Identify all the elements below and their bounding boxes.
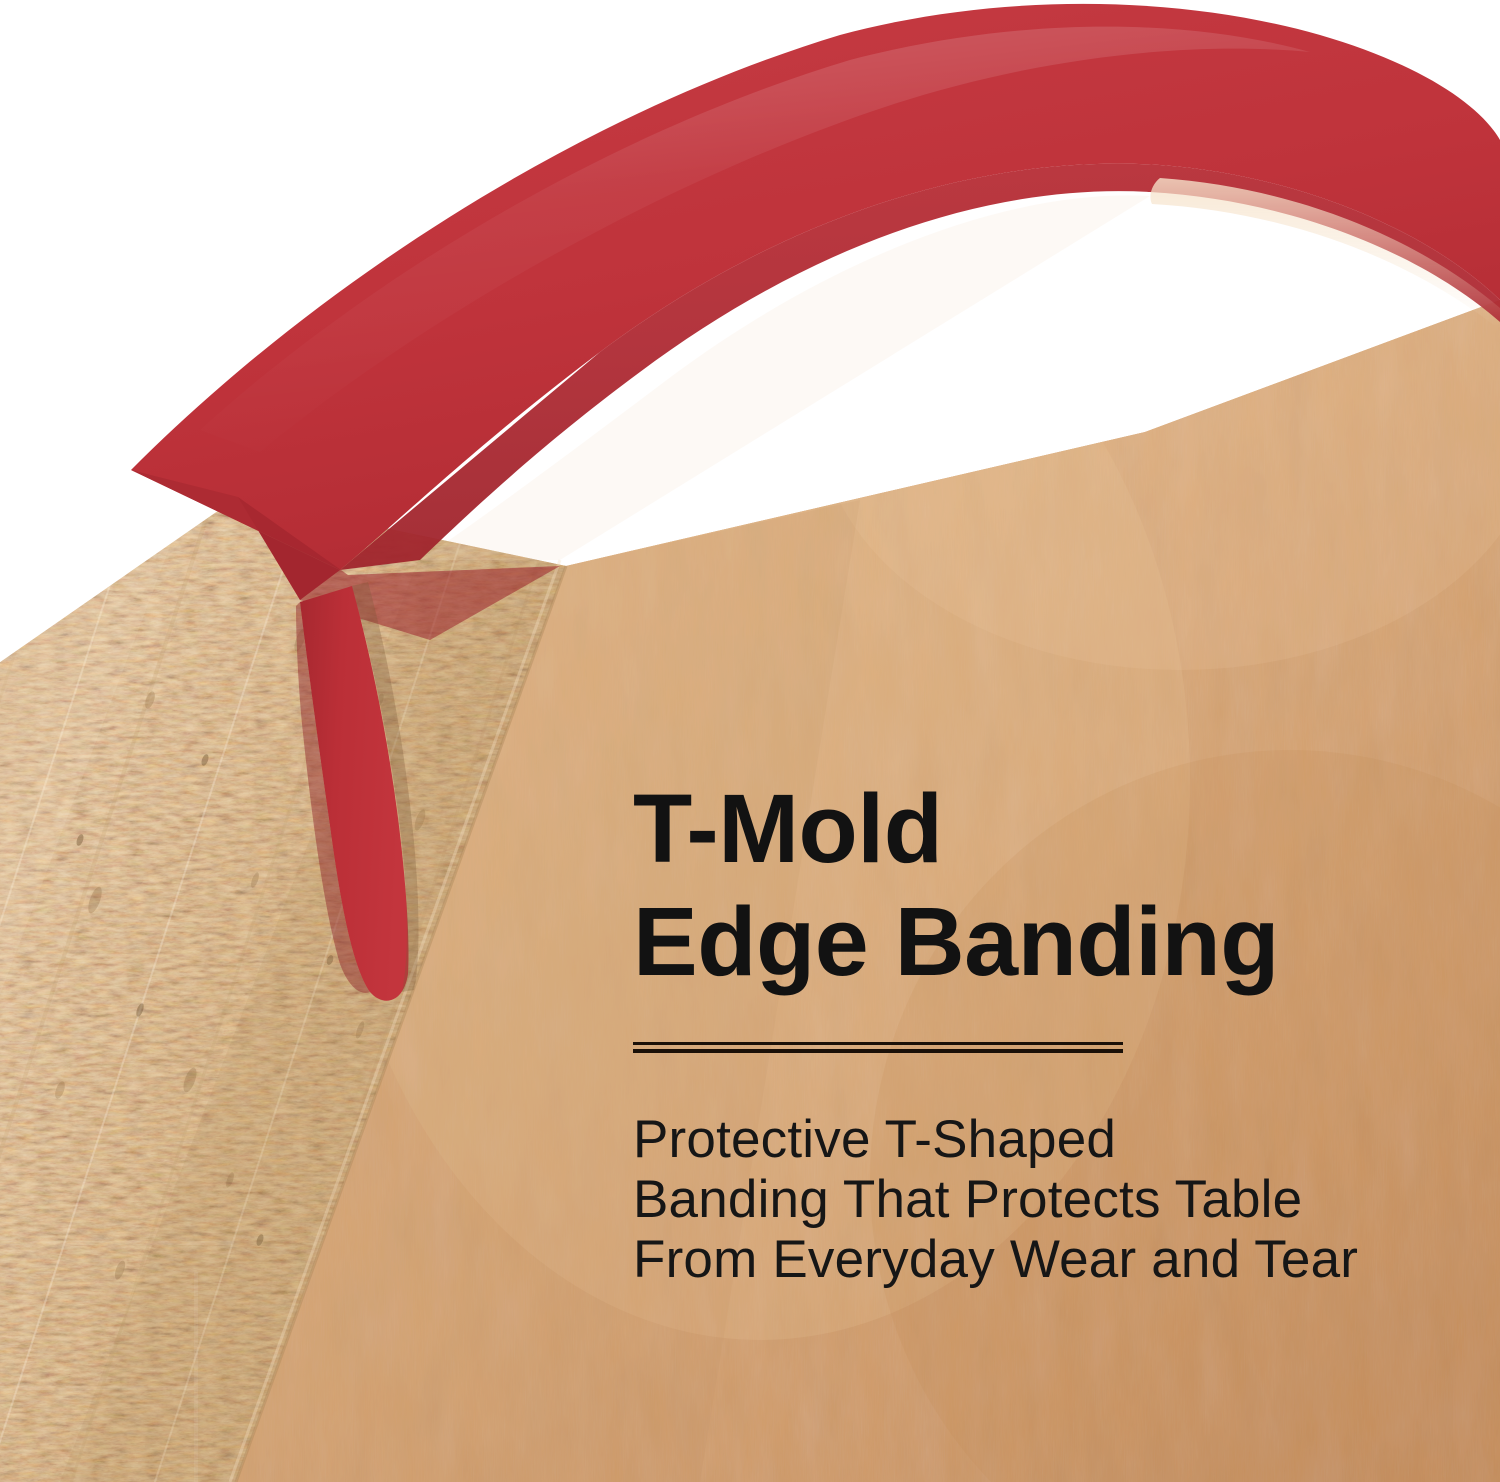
product-feature-image: T-Mold Edge Banding Protective T-Shaped … <box>0 0 1500 1482</box>
headline-line-2: Edge Banding <box>633 885 1423 998</box>
divider <box>633 1042 1123 1052</box>
body-line-1: Protective T-Shaped <box>633 1110 1423 1170</box>
body-line-3: From Everyday Wear and Tear <box>633 1230 1423 1290</box>
body-line-2: Banding That Protects Table <box>633 1170 1423 1230</box>
divider-rule-bottom <box>633 1049 1123 1053</box>
headline-line-1: T-Mold <box>633 772 1423 885</box>
body-copy: Protective T-Shaped Banding That Protect… <box>633 1110 1423 1290</box>
marketing-copy: T-Mold Edge Banding Protective T-Shaped … <box>633 772 1423 1290</box>
divider-rule-top <box>633 1042 1123 1045</box>
